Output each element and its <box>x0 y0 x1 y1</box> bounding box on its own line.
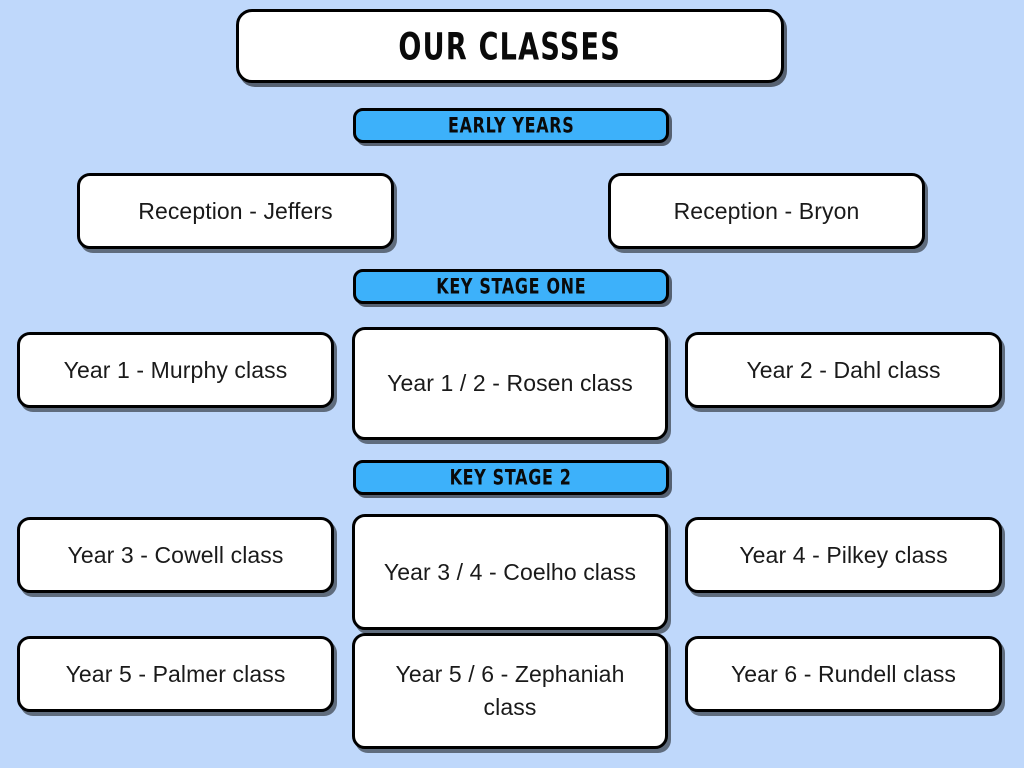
class-card-label: Year 1 / 2 - Rosen class <box>387 367 633 400</box>
section-heading-label: EARLY YEARS <box>448 113 574 138</box>
class-card-label: Year 3 - Cowell class <box>67 539 283 572</box>
class-card-label: Year 2 - Dahl class <box>746 354 940 387</box>
class-card-label: Year 3 / 4 - Coelho class <box>384 556 636 589</box>
class-card-label: Year 5 / 6 - Zephaniah class <box>369 658 651 723</box>
class-card-reception-bryon[interactable]: Reception - Bryon <box>608 173 925 249</box>
class-card-year-3-4-coelho[interactable]: Year 3 / 4 - Coelho class <box>352 514 668 630</box>
page-title-card: OUR CLASSES <box>236 9 784 83</box>
class-card-label: Year 5 - Palmer class <box>66 658 286 691</box>
class-card-year-2-dahl[interactable]: Year 2 - Dahl class <box>685 332 1002 408</box>
class-card-year-1-2-rosen[interactable]: Year 1 / 2 - Rosen class <box>352 327 668 440</box>
class-card-year-5-6-zephaniah[interactable]: Year 5 / 6 - Zephaniah class <box>352 633 668 749</box>
class-card-reception-jeffers[interactable]: Reception - Jeffers <box>77 173 394 249</box>
class-card-year-6-rundell[interactable]: Year 6 - Rundell class <box>685 636 1002 712</box>
section-heading-key-stage-one: KEY STAGE ONE <box>353 269 669 304</box>
section-heading-label: KEY STAGE 2 <box>450 465 572 490</box>
class-card-label: Reception - Jeffers <box>138 195 333 228</box>
class-card-year-5-palmer[interactable]: Year 5 - Palmer class <box>17 636 334 712</box>
class-card-label: Reception - Bryon <box>674 195 860 228</box>
section-heading-label: KEY STAGE ONE <box>436 274 586 299</box>
classes-board: OUR CLASSES EARLY YEARS Reception - Jeff… <box>0 0 1024 768</box>
class-card-label: Year 6 - Rundell class <box>731 658 956 691</box>
class-card-label: Year 1 - Murphy class <box>64 354 288 387</box>
class-card-year-1-murphy[interactable]: Year 1 - Murphy class <box>17 332 334 408</box>
section-heading-early-years: EARLY YEARS <box>353 108 669 143</box>
section-heading-key-stage-2: KEY STAGE 2 <box>353 460 669 495</box>
class-card-label: Year 4 - Pilkey class <box>739 539 947 572</box>
class-card-year-3-cowell[interactable]: Year 3 - Cowell class <box>17 517 334 593</box>
page-title: OUR CLASSES <box>399 24 622 68</box>
class-card-year-4-pilkey[interactable]: Year 4 - Pilkey class <box>685 517 1002 593</box>
